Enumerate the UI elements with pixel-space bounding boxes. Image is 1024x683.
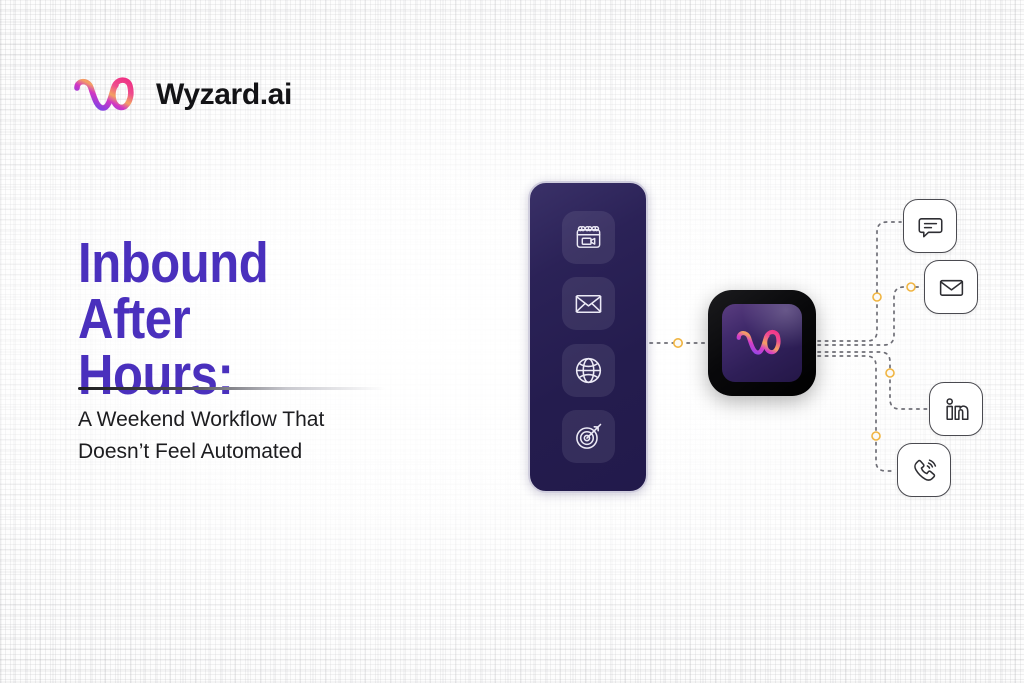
channel-tile-meeting[interactable] <box>562 211 615 264</box>
brand-logo-lockup[interactable]: Wyzard.ai <box>72 72 292 118</box>
endpoint-phone[interactable] <box>897 443 951 497</box>
envelope-icon <box>937 273 966 302</box>
globe-icon <box>573 355 604 386</box>
wire-node-dot <box>674 339 682 347</box>
page-title: Inbound After Hours: <box>78 236 362 404</box>
endpoint-email[interactable] <box>924 260 978 314</box>
target-dart-icon <box>573 421 604 452</box>
wire-node-dot <box>873 293 881 301</box>
chat-bubble-icon <box>916 212 945 241</box>
endpoint-chat[interactable] <box>903 199 957 253</box>
endpoint-linkedin[interactable] <box>929 382 983 436</box>
inbound-channels-panel <box>528 181 648 493</box>
wire-node-dot <box>907 283 915 291</box>
title-divider <box>78 387 385 390</box>
linkedin-icon <box>942 395 971 424</box>
channel-tile-campaign[interactable] <box>562 410 615 463</box>
channel-tile-email[interactable] <box>562 277 615 330</box>
wire-hub-to-chat <box>818 222 901 341</box>
poster-canvas: Wyzard.ai Inbound After Hours: A Weekend… <box>0 0 1024 683</box>
wyzard-agent-hub[interactable] <box>708 290 816 396</box>
wire-node-dot <box>872 432 880 440</box>
wyzard-wave-logo-icon <box>734 326 790 360</box>
wire-node-dot <box>886 369 894 377</box>
wire-hub-to-phone <box>818 356 895 471</box>
wire-hub-to-mail <box>818 287 922 345</box>
brand-name-text: Wyzard.ai <box>156 78 292 112</box>
wire-hub-to-linkedin <box>818 352 927 409</box>
hub-inner-gradient <box>722 304 802 382</box>
phone-ring-icon <box>910 456 939 485</box>
wyzard-wave-logo-icon <box>72 72 145 118</box>
envelope-icon <box>573 288 604 319</box>
channel-tile-website[interactable] <box>562 344 615 397</box>
calendar-video-icon <box>573 222 604 253</box>
page-subtitle: A Weekend Workflow That Doesn’t Feel Aut… <box>78 404 408 468</box>
